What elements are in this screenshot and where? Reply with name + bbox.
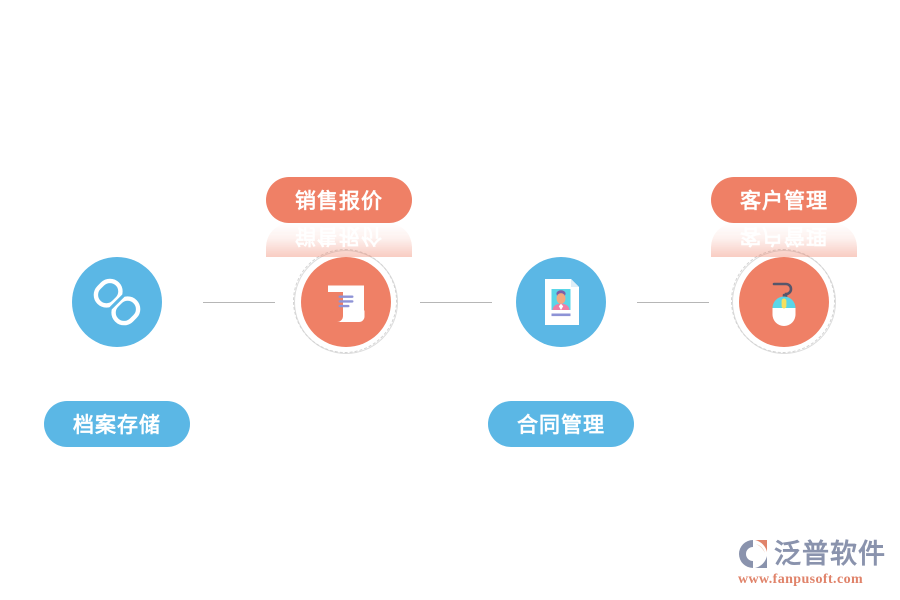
connector-line-1 <box>203 302 275 303</box>
badge-customer-management-reflection: 客户管理 <box>711 223 857 257</box>
scroll-document-icon <box>321 277 371 327</box>
logo-row: 泛普软件 <box>736 538 886 570</box>
flow-node-archive-storage[interactable] <box>72 257 162 347</box>
diagram-canvas: 销售报价 销售报价 客户管理 客户管理 档案存储 合同管理 泛普软件 www. <box>0 0 900 600</box>
logo-company-name: 泛普软件 <box>774 541 886 568</box>
badge-label: 销售报价 <box>295 185 383 215</box>
badge-customer-management[interactable]: 客户管理 <box>711 177 857 223</box>
computer-mouse-icon <box>758 275 810 329</box>
connector-line-3 <box>637 302 709 303</box>
logo-url: www.fanpusoft.com <box>738 572 863 588</box>
connector-line-2 <box>420 302 492 303</box>
flow-node-customer-management[interactable] <box>739 257 829 347</box>
badge-label: 合同管理 <box>517 409 605 439</box>
badge-sales-quote-reflection: 销售报价 <box>266 223 412 257</box>
badge-label: 档案存储 <box>73 409 161 439</box>
badge-archive-storage[interactable]: 档案存储 <box>44 401 190 447</box>
fanpu-logo-mark-icon <box>736 538 770 570</box>
badge-sales-quote[interactable]: 销售报价 <box>266 177 412 223</box>
flow-node-contract-management[interactable] <box>516 257 606 347</box>
flow-node-sales-quote[interactable] <box>301 257 391 347</box>
badge-contract-management[interactable]: 合同管理 <box>488 401 634 447</box>
id-card-icon <box>537 276 585 328</box>
badge-label: 客户管理 <box>740 185 828 215</box>
watermark-logo: 泛普软件 www.fanpusoft.com <box>736 538 886 588</box>
chain-link-icon <box>90 275 144 329</box>
